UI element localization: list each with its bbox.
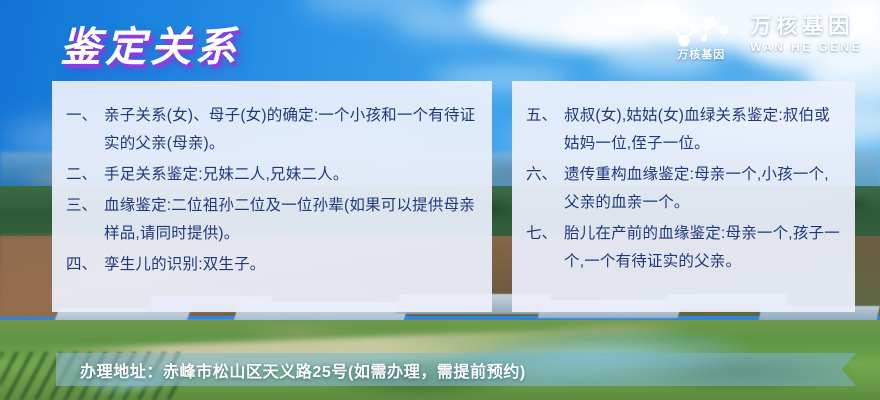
list-item: 七、 胎儿在产前的血缘鉴定:母亲一个,孩子一个,一个有待证实的父亲。	[526, 220, 841, 276]
brand-wordmark: 万核基因 WAN HE GENE	[750, 16, 862, 56]
list-item-text: 手足关系鉴定:兄妹二人,兄妹二人。	[104, 161, 478, 189]
list-item-number: 二、	[66, 161, 104, 189]
list-item-number: 四、	[66, 251, 104, 279]
info-panel-left: 一、 亲子关系(女)、母子(女)的确定:一个小孩和一个有待证实的父亲(母亲)。 …	[52, 81, 492, 312]
brand-logo: 万核基因 万核基因 WAN HE GENE	[654, 11, 862, 61]
list-item-text: 胎儿在产前的血缘鉴定:母亲一个,孩子一个,一个有待证实的父亲。	[564, 220, 841, 276]
list-item-number: 六、	[526, 161, 564, 189]
page-title: 鉴定关系	[60, 13, 240, 73]
molecule-dna-icon: 万核基因	[654, 11, 738, 61]
list-item: 四、 孪生儿的识别:双生子。	[66, 251, 478, 279]
poster-canvas: 鉴定关系	[0, 0, 880, 400]
list-item-text: 亲子关系(女)、母子(女)的确定:一个小孩和一个有待证实的父亲(母亲)。	[104, 102, 478, 158]
brand-mark-label: 万核基因	[662, 46, 740, 62]
list-item: 六、 遗传重构血缘鉴定:母亲一个,小孩一个,父亲的血亲一个。	[526, 161, 841, 217]
list-item-text: 血缘鉴定:二位祖孙二位及一位孙辈(如果可以提供母亲样品,请同时提供)。	[104, 192, 478, 248]
address-banner: 办理地址：赤峰市松山区天义路25号(如需办理，需提前预约)	[56, 353, 856, 386]
brand-name-en: WAN HE GENE	[750, 40, 862, 54]
address-text: 办理地址：赤峰市松山区天义路25号(如需办理，需提前预约)	[56, 358, 526, 382]
list-item-number: 三、	[66, 192, 104, 220]
list-item: 三、 血缘鉴定:二位祖孙二位及一位孙辈(如果可以提供母亲样品,请同时提供)。	[66, 192, 478, 248]
list-item-text: 遗传重构血缘鉴定:母亲一个,小孩一个,父亲的血亲一个。	[564, 161, 841, 217]
info-panel-right: 五、 叔叔(女),姑姑(女)血绿关系鉴定:叔伯或姑妈一位,侄子一位。 六、 遗传…	[512, 81, 855, 312]
list-item-number: 一、	[66, 102, 104, 130]
list-item: 一、 亲子关系(女)、母子(女)的确定:一个小孩和一个有待证实的父亲(母亲)。	[66, 102, 478, 158]
list-item-number: 七、	[526, 220, 564, 248]
list-item: 二、 手足关系鉴定:兄妹二人,兄妹二人。	[66, 161, 478, 189]
list-item-text: 叔叔(女),姑姑(女)血绿关系鉴定:叔伯或姑妈一位,侄子一位。	[564, 102, 841, 158]
cloud-shape	[392, 10, 512, 38]
list-item-number: 五、	[526, 102, 564, 130]
brand-name-cn: 万核基因	[750, 16, 862, 39]
list-item: 五、 叔叔(女),姑姑(女)血绿关系鉴定:叔伯或姑妈一位,侄子一位。	[526, 102, 841, 158]
list-item-text: 孪生儿的识别:双生子。	[104, 251, 478, 279]
